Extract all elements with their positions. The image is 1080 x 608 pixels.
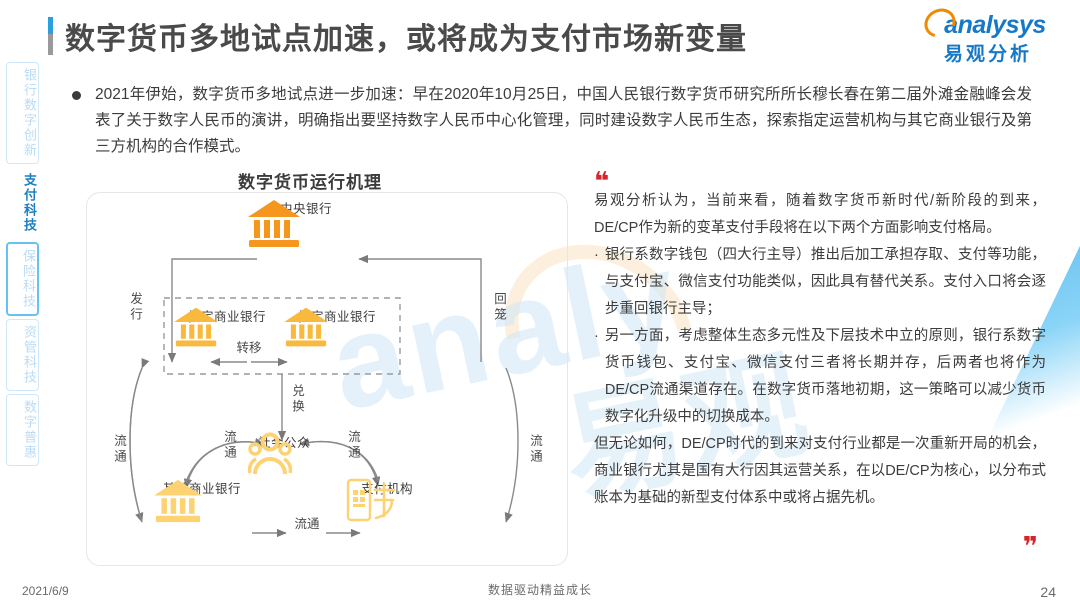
analysis-paragraph-conclusion: 但无论如何，DE/CP时代的到来对支付行业都是一次重新开局的机会，商业银行尤其是… [594,431,1046,512]
edge-label-circulate-bottom: 流通 [272,516,342,533]
sidebar-item-bank-digital-innovation[interactable]: 银行数字创新 [6,62,39,164]
sidebar-item-payment-tech[interactable]: 支付科技 [6,167,39,239]
page-title-text: 数字货币多地试点加速，或将成为支付市场新变量 [65,14,747,58]
node-public: 社会公众 [244,432,324,451]
mobile-payment-icon [342,478,398,524]
analysis-list-item-1-text: 银行系数字钱包（四大行主导）推出后加工承担存取、支付等功能，与支付宝、微信支付功… [605,242,1046,323]
edge-label-issue: 发行 [126,292,143,323]
sidebar-item-digital-inclusive-finance[interactable]: 数字普惠 [6,394,39,466]
bullet-dot-icon [72,91,81,100]
edge-label-circulate-right: 流通 [526,434,543,465]
intro-bullet: 2021年伊始，数字货币多地试点进一步加速：早在2020年10月25日，中国人民… [72,82,1032,160]
footer-page-number: 24 [1040,584,1056,600]
edge-label-transfer: 转移 [206,340,292,357]
sidebar-item-insurance-tech[interactable]: 保险科技 [6,242,39,316]
analysis-list-item-1: · 银行系数字钱包（四大行主导）推出后加工承担存取、支付等功能，与支付宝、微信支… [594,242,1046,323]
node-designated-bank-left: 指定商业银行 [172,306,282,325]
sidebar: 银行数字创新 支付科技 保险科技 资管科技 数字普惠 [6,62,39,466]
edge-label-circulate-public-right: 流通 [344,430,361,461]
currency-flow-diagram: 中央银行 指定商业银行 指定商业银行 [86,192,566,564]
people-icon [244,432,296,478]
analysis-panel: 易观分析认为，当前来看，随着数字货币新时代/新阶段的到来，DE/CP作为新的变革… [594,188,1046,512]
node-central-bank: 中央银行 [246,198,366,217]
node-designated-bank-right: 指定商业银行 [282,306,392,325]
bank-icon [152,478,204,524]
analysis-list-item-2-text: 另一方面，考虑整体生态多元性及下层技术中立的原则，银行系数字货币钱包、支付宝、微… [605,323,1046,431]
bank-icon [246,198,302,248]
node-payment-organization: 支付机构 [342,478,432,497]
edge-label-withdraw: 回笼 [490,292,507,323]
edge-label-circulate-left: 流通 [110,434,127,465]
list-marker-icon: · [594,242,599,323]
footer-slogan: 数据驱动精益成长 [0,581,1080,598]
sidebar-item-asset-management-tech[interactable]: 资管科技 [6,319,39,391]
node-other-commercial-bank: 其他商业银行 [152,478,252,497]
analysis-list-item-2: · 另一方面，考虑整体生态多元性及下层技术中立的原则，银行系数字货币钱包、支付宝… [594,323,1046,431]
edge-label-exchange: 兑换 [288,384,305,415]
diagram-title: 数字货币运行机理 [150,168,470,193]
title-accent-bar [48,17,53,55]
quote-close-icon: ❞ [1023,533,1036,559]
brand-logo: analysys 易观分析 [922,10,1054,66]
intro-bullet-text: 2021年伊始，数字货币多地试点进一步加速：早在2020年10月25日，中国人民… [95,82,1032,160]
edge-label-circulate-public-left: 流通 [220,430,237,461]
page-title: 数字货币多地试点加速，或将成为支付市场新变量 [48,14,747,58]
analysis-paragraph-intro: 易观分析认为，当前来看，随着数字货币新时代/新阶段的到来，DE/CP作为新的变革… [594,188,1046,242]
logo-chinese-name: 易观分析 [922,39,1054,66]
slide-root: analy 易观 数字货币多地试点加速，或将成为支付市场新变量 analysys… [0,0,1080,608]
list-marker-icon: · [594,323,599,431]
